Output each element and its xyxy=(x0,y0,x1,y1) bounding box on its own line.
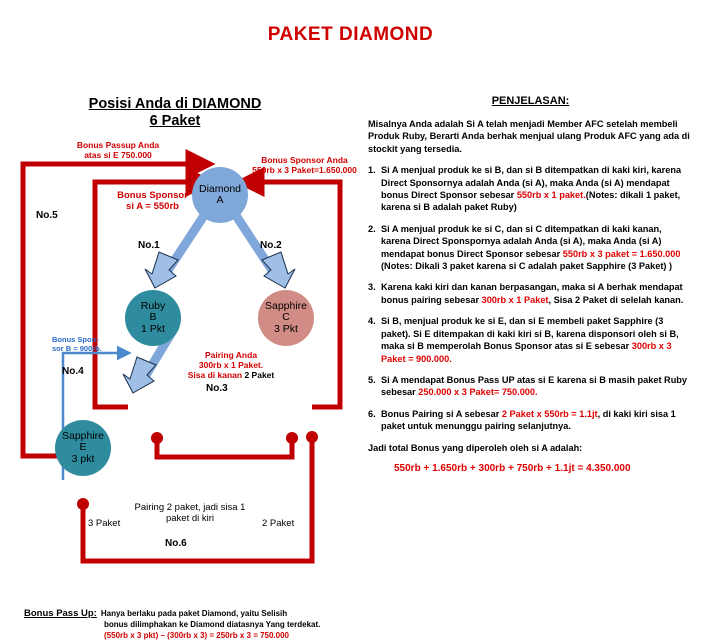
node-sapphire-c-pkt: 3 Pkt xyxy=(274,324,298,336)
total-bonus-sum: 550rb + 1.650rb + 300rb + 750rb + 1.1jt … xyxy=(394,463,693,474)
explanation-item-2-number: 2. xyxy=(368,223,381,273)
node-ruby-b-pkt: 1 Pkt xyxy=(141,324,165,336)
step-no5: No.5 xyxy=(36,210,58,221)
dot-e-bottom xyxy=(77,498,89,510)
label-pairing-anda-l3: Sisa di kanan 2 Paket xyxy=(176,370,286,380)
explanation-item-4-text: Si B, menjual produk ke si E, dan si E m… xyxy=(381,315,693,365)
explanation-item-3-b: , Sisa 2 Paket di selelah kanan. xyxy=(549,295,684,305)
label-bonus-sponsor-anda-l2: 550rb x 3 Paket=1.650.000 xyxy=(242,165,367,175)
step-no6: No.6 xyxy=(165,538,187,549)
label-bottom-note: Pairing 2 paket, jadi sisa 1 paket di ki… xyxy=(120,502,260,524)
pairing-connector-no6 xyxy=(83,434,312,561)
explanation-item-3-text: Karena kaki kiri dan kanan berpasangan, … xyxy=(381,281,693,306)
explanation-item-2-text: Si A menjual produk ke si C, dan si C di… xyxy=(381,223,693,273)
label-bonus-passup-l1: Bonus Passup Anda xyxy=(38,140,198,150)
label-pairing-sisa-black: 2 Paket xyxy=(244,370,274,380)
node-sapphire-e[interactable]: Sapphire E 3 pkt xyxy=(55,420,111,476)
footnote-bonus-pass-up: Bonus Pass Up: Hanya berlaku pada paket … xyxy=(24,608,354,641)
label-bonus-passup: Bonus Passup Anda atas si E 750.000 xyxy=(38,140,198,160)
genealogy-diagram: Posisi Anda di DIAMOND 6 Paket xyxy=(0,90,360,579)
label-bonus-sponsor-a-l2: si A = 550rb xyxy=(90,201,215,212)
explanation-item-6-red: 2 Paket x 550rb = 1.1jt xyxy=(502,409,598,419)
label-paket-kiri: 3 Paket xyxy=(88,518,138,529)
explanation-item-6-text: Bonus Pairing si A sebesar 2 Paket x 550… xyxy=(381,408,693,433)
explanation-item-5: 5. Si A mendapat Bonus Pass UP atas si E… xyxy=(368,374,693,399)
node-sapphire-e-pkt: 3 pkt xyxy=(72,454,95,466)
label-bonus-sponsor-anda-l1: Bonus Sponsor Anda xyxy=(242,155,367,165)
label-paket-kanan: 2 Paket xyxy=(262,518,312,529)
explanation-item-1: 1. Si A menjual produk ke si B, dan si B… xyxy=(368,164,693,214)
label-bonus-sponsor-anda: Bonus Sponsor Anda 550rb x 3 Paket=1.650… xyxy=(242,155,367,175)
footnote-line3: (550rb x 3 pkt) – (300rb x 3) = 250rb x … xyxy=(104,630,354,641)
label-pairing-anda-l1: Pairing Anda xyxy=(176,350,286,360)
explanation-item-3: 3. Karena kaki kiri dan kanan berpasanga… xyxy=(368,281,693,306)
node-ruby-b[interactable]: Ruby B 1 Pkt xyxy=(125,290,181,346)
step-no3: No.3 xyxy=(206,383,228,394)
label-bonus-sponsor-b-l1: Bonus Spon- xyxy=(52,335,122,344)
node-diamond-a-letter: A xyxy=(216,195,223,207)
page-title: PAKET DIAMOND xyxy=(0,24,701,46)
step-no1: No.1 xyxy=(138,240,160,251)
label-bottom-note-l2: paket di kiri xyxy=(120,513,260,524)
explanation-item-5-red: 250.000 x 3 Paket= 750.000. xyxy=(418,387,537,397)
step-no2: No.2 xyxy=(260,240,282,251)
explanation-intro: Misalnya Anda adalah Si A telah menjadi … xyxy=(368,118,693,155)
explanation-item-2-b: (Notes: Dikali 3 paket karena si C adala… xyxy=(381,261,672,271)
explanation-item-4-number: 4. xyxy=(368,315,381,365)
explanation-item-3-red: 300rb x 1 Paket xyxy=(482,295,549,305)
dot-c-bottom-left xyxy=(286,432,298,444)
explanation-item-6: 6. Bonus Pairing si A sebesar 2 Paket x … xyxy=(368,408,693,433)
label-pairing-anda-l2: 300rb x 1 Paket. xyxy=(176,360,286,370)
explanation-item-1-number: 1. xyxy=(368,164,381,214)
explanation-item-2-red: 550rb x 3 paket = 1.650.000 xyxy=(563,249,681,259)
footnote-line2: bonus dilimphakan ke Diamond diatasnya Y… xyxy=(104,619,354,630)
dot-c-bottom-right xyxy=(306,431,318,443)
label-bonus-passup-l2: atas si E 750.000 xyxy=(38,150,198,160)
label-bottom-note-l1: Pairing 2 paket, jadi sisa 1 xyxy=(120,502,260,513)
explanation-item-4: 4. Si B, menjual produk ke si E, dan si … xyxy=(368,315,693,365)
explanation-item-1-red: 550rb x 1 paket. xyxy=(517,190,586,200)
step-no4: No.4 xyxy=(62,366,84,377)
label-bonus-sponsor-b: Bonus Spon- sor B = 900rb. xyxy=(52,335,122,353)
explanation-item-5-number: 5. xyxy=(368,374,381,399)
label-pairing-sisa-red: Sisa di kanan xyxy=(188,370,242,380)
footnote-head: Bonus Pass Up: xyxy=(24,608,97,619)
label-bonus-sponsor-a-l1: Bonus Sponsor xyxy=(90,190,215,201)
explanation-item-5-text: Si A mendapat Bonus Pass UP atas si E ka… xyxy=(381,374,693,399)
label-bonus-sponsor-b-l2: sor B = 900rb. xyxy=(52,344,122,353)
footnote-line1: Hanya berlaku pada paket Diamond, yaitu … xyxy=(101,608,287,619)
explanation-panel: PENJELASAN: Misalnya Anda adalah Si A te… xyxy=(368,95,693,474)
node-sapphire-c[interactable]: Sapphire C 3 Pkt xyxy=(258,290,314,346)
total-bonus-lead: Jadi total Bonus yang diperoleh oleh si … xyxy=(368,442,693,454)
explanation-item-1-text: Si A menjual produk ke si B, dan si B di… xyxy=(381,164,693,214)
explanation-item-2: 2. Si A menjual produk ke si C, dan si C… xyxy=(368,223,693,273)
dot-b-bottom xyxy=(151,432,163,444)
explanation-item-6-a: Bonus Pairing si A sebesar xyxy=(381,409,502,419)
explanation-item-6-number: 6. xyxy=(368,408,381,433)
label-pairing-anda: Pairing Anda 300rb x 1 Paket. Sisa di ka… xyxy=(176,350,286,380)
label-bonus-sponsor-a: Bonus Sponsor si A = 550rb xyxy=(90,190,215,212)
explanation-title: PENJELASAN: xyxy=(368,95,693,107)
explanation-item-3-number: 3. xyxy=(368,281,381,306)
